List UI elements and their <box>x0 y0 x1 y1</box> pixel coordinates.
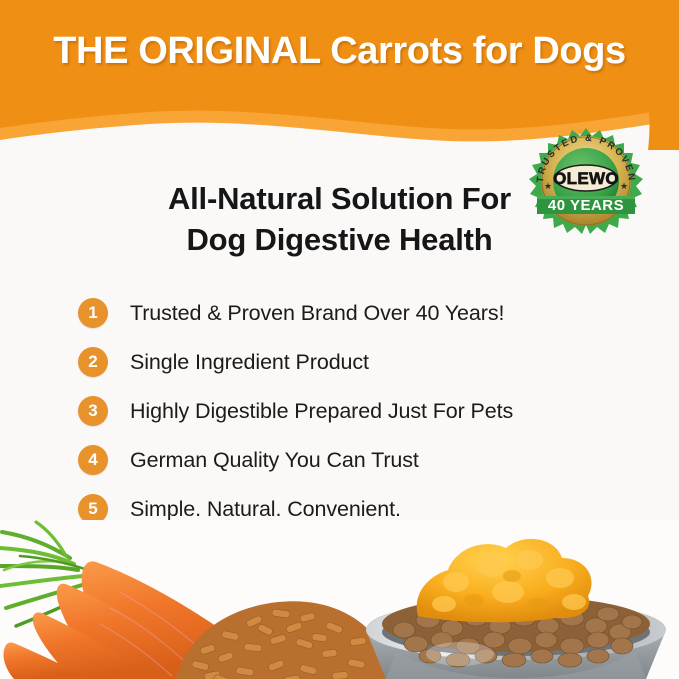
list-item: 1 Trusted & Proven Brand Over 40 Years! <box>78 288 638 337</box>
benefit-label: Trusted & Proven Brand Over 40 Years! <box>130 300 504 326</box>
benefits-list: 1 Trusted & Proven Brand Over 40 Years! … <box>78 288 638 533</box>
list-item: 4 German Quality You Can Trust <box>78 435 638 484</box>
product-photo-band <box>0 520 679 679</box>
benefit-number-badge: 2 <box>78 347 108 377</box>
list-item: 3 Highly Digestible Prepared Just For Pe… <box>78 386 638 435</box>
page-title-emphasis: THE ORIGINAL <box>53 30 320 72</box>
page-title: THE ORIGINAL Carrots for Dogs <box>0 28 679 74</box>
page-title-rest: Carrots for Dogs <box>320 30 626 72</box>
headline: All-Natural Solution For Dog Digestive H… <box>0 178 679 260</box>
benefit-number-badge: 1 <box>78 298 108 328</box>
product-photo-illustration <box>0 520 679 679</box>
benefit-label: German Quality You Can Trust <box>130 447 419 473</box>
benefit-number-badge: 4 <box>78 445 108 475</box>
list-item: 2 Single Ingredient Product <box>78 337 638 386</box>
benefit-number-badge: 5 <box>78 494 108 524</box>
benefit-label: Simple. Natural. Convenient. <box>130 496 401 522</box>
benefit-label: Single Ingredient Product <box>130 349 369 375</box>
product-infographic: THE ORIGINAL Carrots for Dogs <box>0 0 679 679</box>
headline-line-2: Dog Digestive Health <box>0 219 679 260</box>
headline-line-1: All-Natural Solution For <box>0 178 679 219</box>
benefit-label: Highly Digestible Prepared Just For Pets <box>130 398 513 424</box>
benefit-number-badge: 3 <box>78 396 108 426</box>
